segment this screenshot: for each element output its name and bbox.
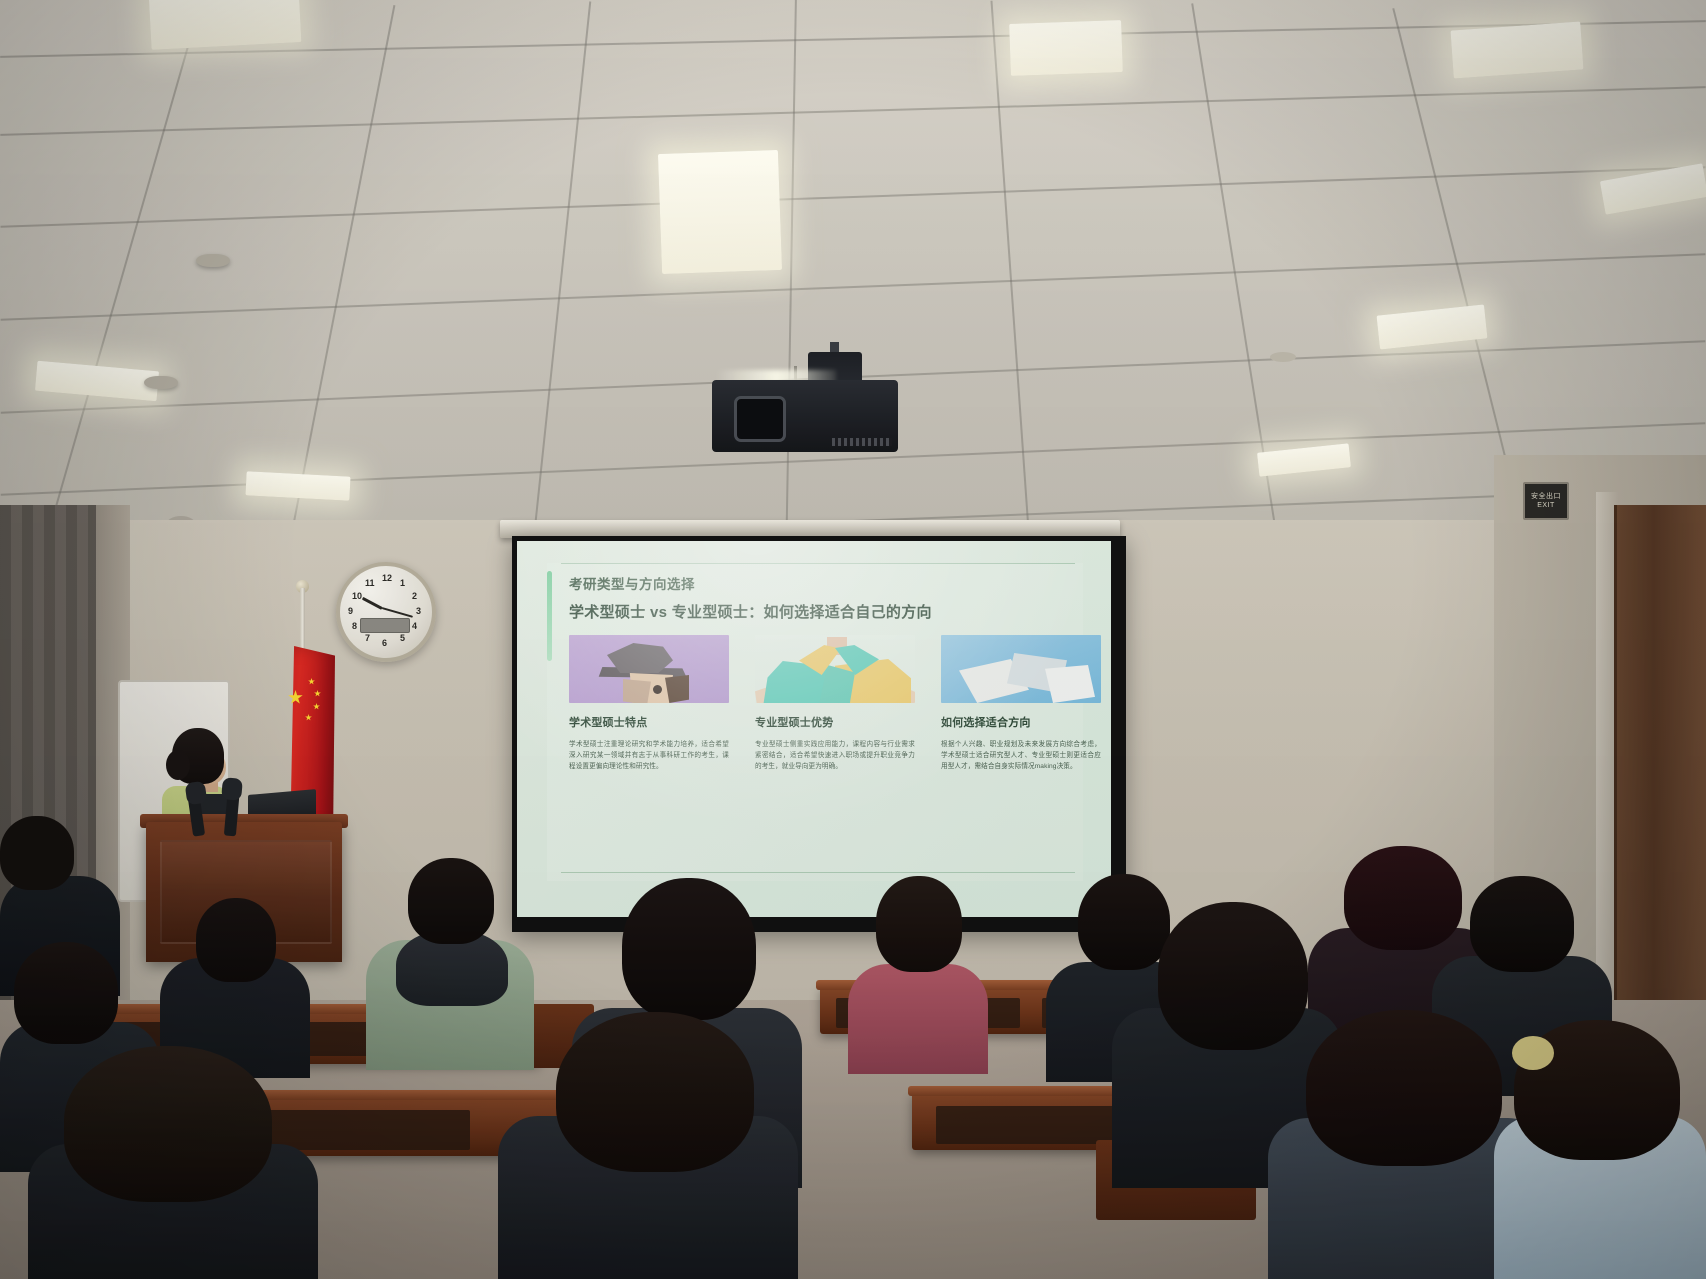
smoke-detector-icon [196,254,230,267]
projection-screen: 考研类型与方向选择 学术型硕士 vs 专业型硕士：如何选择适合自己的方向 学术型… [517,541,1111,917]
slide-card-heading: 如何选择适合方向 [941,714,1101,730]
slide-kicker: 考研类型与方向选择 [569,573,695,593]
clock-numeral: 3 [416,606,421,616]
ceiling-light [149,0,302,50]
projection-screen-frame: 考研类型与方向选择 学术型硕士 vs 专业型硕士：如何选择适合自己的方向 学术型… [512,536,1126,932]
slide-card: 如何选择适合方向 根据个人兴趣、职业规划及未来发展方向综合考虑，学术型硕士适合研… [941,635,1101,772]
ceiling-speaker-icon [1270,352,1296,362]
audience-head [1078,874,1170,970]
ceiling-light [658,150,782,274]
slide-divider-bottom [561,872,1075,873]
exit-sign-line-2: EXIT [1537,501,1555,510]
exit-sign: 安全出口 EXIT [1523,482,1569,520]
audience-head [1158,902,1308,1050]
audience-head [196,898,276,982]
audience-head [622,878,756,1020]
low-poly-person-in-hat-icon [569,635,729,703]
slide-title: 学术型硕士 vs 专业型硕士：如何选择适合自己的方向 [569,601,932,622]
slide-card-body: 根据个人兴趣、职业规划及未来发展方向综合考虑，学术型硕士适合研究型人才、专业型硕… [941,739,1101,772]
audience-head [556,1012,754,1172]
clock-numeral: 9 [348,606,353,616]
clock-numeral: 2 [412,591,417,601]
clock-numeral: 6 [382,638,387,648]
slide-card: 学术型硕士特点 学术型硕士注重理论研究和学术能力培养，适合希望深入研究某一领域并… [569,635,729,772]
projector-lens-icon [734,396,786,442]
slide-card-heading: 专业型硕士优势 [755,714,915,730]
microphone-head-icon [221,777,243,801]
clock-minute-hand [382,607,413,618]
presentation-slide: 考研类型与方向选择 学术型硕士 vs 专业型硕士：如何选择适合自己的方向 学术型… [547,563,1083,881]
slide-divider-top [561,563,1075,564]
low-poly-documents-icon [941,635,1101,703]
ceiling-projector [712,352,912,464]
audience-head [14,942,118,1044]
clock-numeral: 10 [352,591,362,601]
ceiling [0,0,1706,560]
low-poly-person-in-shirt-icon [755,635,915,703]
slide-card-row: 学术型硕士特点 学术型硕士注重理论研究和学术能力培养，适合希望深入研究某一领域并… [569,635,1069,772]
flagpole [300,588,305,658]
audience-head [408,858,494,944]
clock-numeral: 5 [400,633,405,643]
slide-card: 专业型硕士优势 专业型硕士侧重实践应用能力，课程内容与行业需求紧密结合，适合希望… [755,635,915,772]
slide-card-body: 学术型硕士注重理论研究和学术能力培养，适合希望深入研究某一领域并有志于从事科研工… [569,739,729,772]
lecture-hall-scene: 安全出口 EXIT 12 1 2 3 4 5 6 7 8 9 10 11 [0,0,1706,1279]
clock-numeral: 11 [365,578,375,588]
ceiling-light [1009,20,1123,76]
smoke-detector-icon [144,376,178,389]
clock-digital-display [360,618,410,633]
clock-numeral: 7 [365,633,370,643]
audience-head [0,816,74,890]
audience-head [1306,1010,1502,1166]
clock-numeral: 12 [382,573,392,583]
slide-accent-bar [547,571,552,661]
clock-numeral: 8 [352,621,357,631]
audience-head [64,1046,272,1202]
audience-head [876,876,962,972]
hair-scrunchie-icon [1512,1036,1554,1070]
clock-hour-hand [362,597,383,610]
audience-member [848,964,988,1074]
exit-sign-line-1: 安全出口 [1531,492,1561,501]
audience-head [1344,846,1462,950]
clock-numeral: 4 [412,621,417,631]
analog-wall-clock: 12 1 2 3 4 5 6 7 8 9 10 11 [336,562,436,662]
desk-front-panel [256,1110,470,1150]
slide-card-heading: 学术型硕士特点 [569,714,729,730]
exit-door[interactable] [1614,505,1706,1065]
ceiling-light [1450,22,1583,79]
slide-card-body: 专业型硕士侧重实践应用能力，课程内容与行业需求紧密结合，适合希望快速进入职场或提… [755,739,915,772]
audience-head [1470,876,1574,972]
clock-numeral: 1 [400,578,405,588]
